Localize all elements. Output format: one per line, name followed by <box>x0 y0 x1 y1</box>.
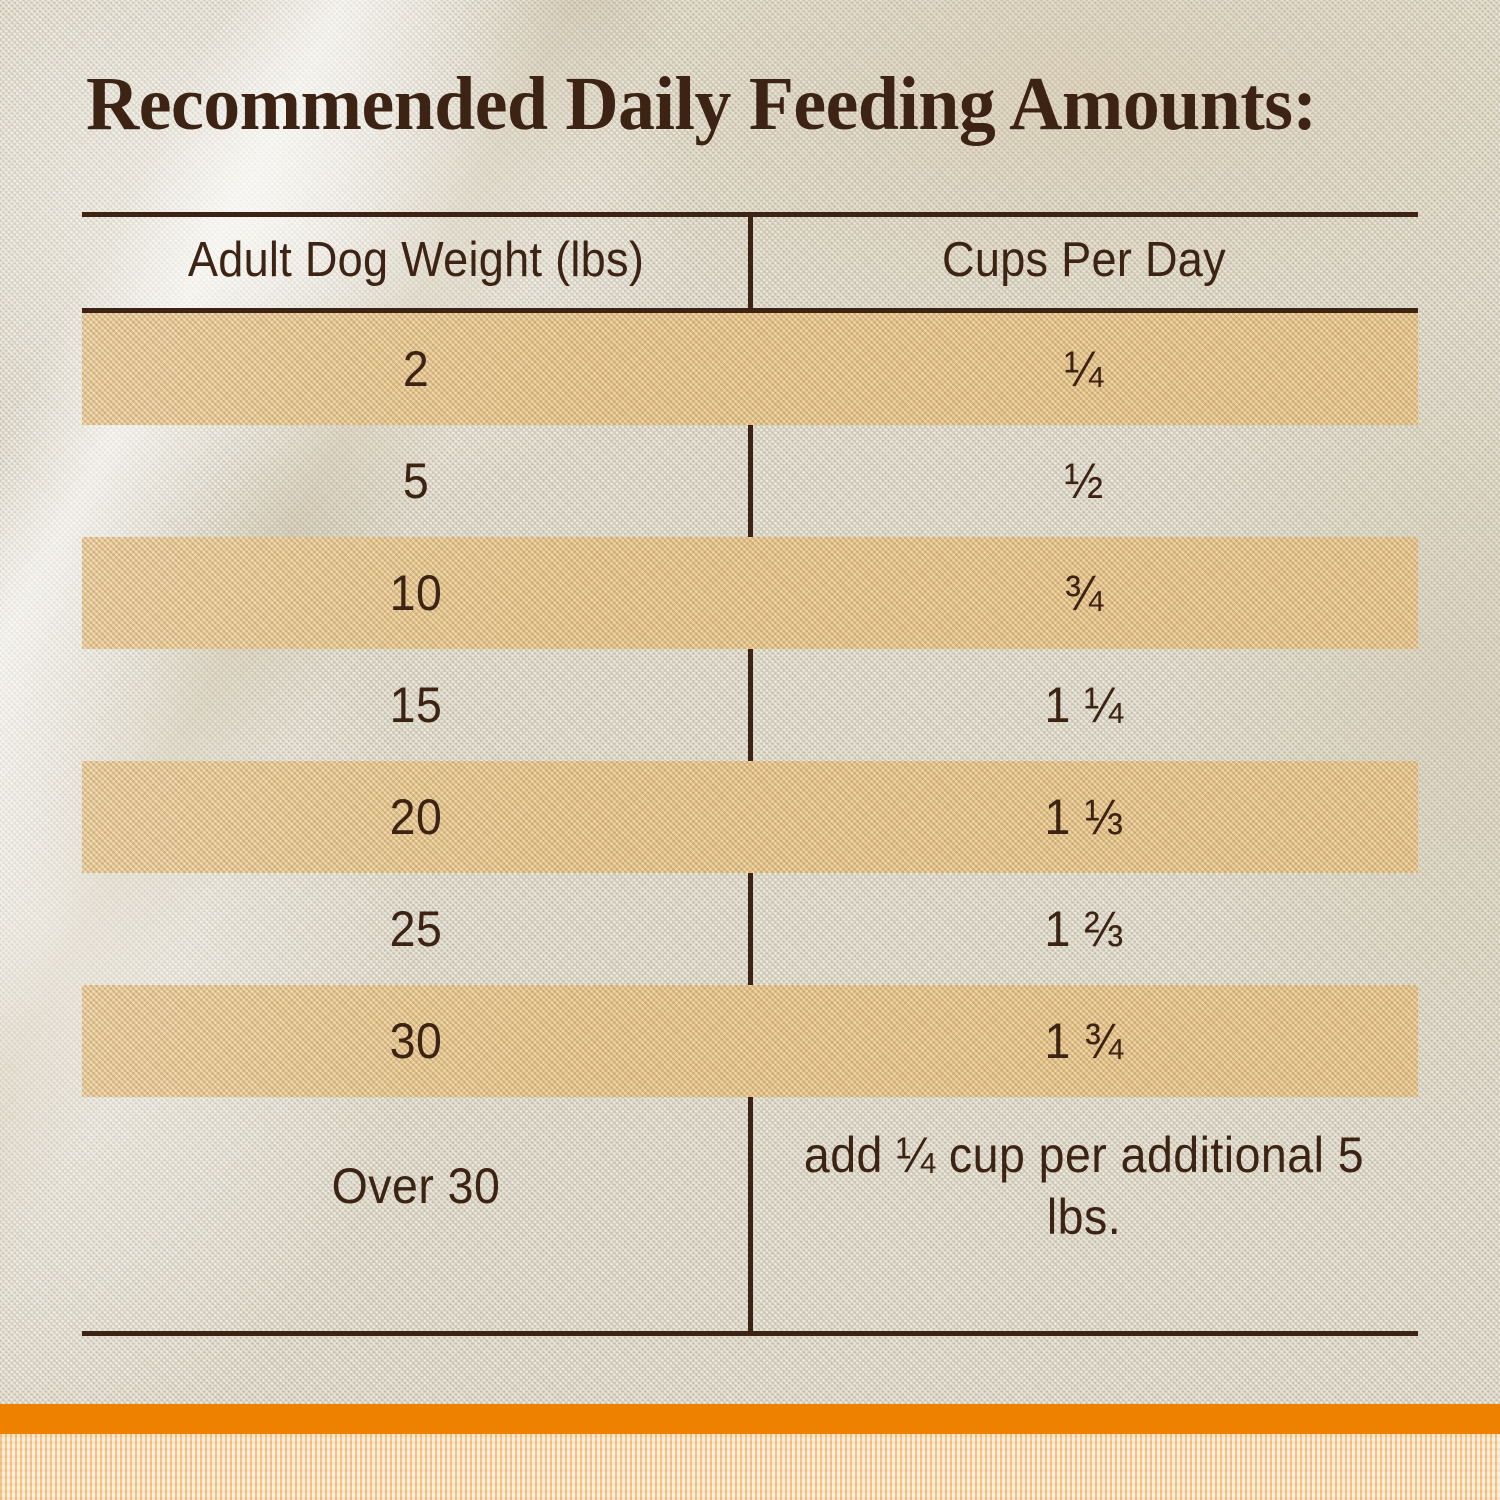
cell-cups: 1 ⅔ <box>773 873 1394 985</box>
table-row: 10 ¾ <box>82 537 1418 649</box>
cell-weight: 2 <box>105 313 726 425</box>
table-row: 5 ½ <box>82 425 1418 537</box>
cell-weight: 15 <box>105 649 726 761</box>
cell-cups: 1 ¼ <box>773 649 1394 761</box>
cell-cups: ¾ <box>773 537 1394 649</box>
cell-cups: add ¼ cup per additional 5 lbs. <box>773 1097 1394 1275</box>
cell-cups: ¼ <box>773 313 1394 425</box>
bottom-peach-fabric <box>0 1434 1500 1500</box>
cell-weight: 30 <box>105 985 726 1097</box>
table-row: 25 1 ⅔ <box>82 873 1418 985</box>
page-title: Recommended Daily Feeding Amounts: <box>86 62 1386 146</box>
table-row: 30 1 ¾ <box>82 985 1418 1097</box>
cell-weight: 5 <box>105 425 726 537</box>
table-row: 2 ¼ <box>82 313 1418 425</box>
table-row: 20 1 ⅓ <box>82 761 1418 873</box>
column-header-weight: Adult Dog Weight (lbs) <box>109 212 724 308</box>
cell-weight: Over 30 <box>105 1097 726 1275</box>
table-body: 2 ¼ 5 ½ 10 ¾ 15 1 ¼ 20 1 ⅓ 25 1 ⅔ <box>82 313 1418 1331</box>
accent-orange-bar <box>0 1404 1500 1434</box>
cell-cups: 1 ⅓ <box>773 761 1394 873</box>
table-row: 15 1 ¼ <box>82 649 1418 761</box>
cell-weight: 25 <box>105 873 726 985</box>
cell-weight: 10 <box>105 537 726 649</box>
column-header-cups: Cups Per Day <box>777 212 1392 308</box>
feeding-chart-canvas: Recommended Daily Feeding Amounts: Adult… <box>0 0 1500 1500</box>
table-row: Over 30 add ¼ cup per additional 5 lbs. <box>82 1097 1418 1275</box>
feeding-amounts-table: Adult Dog Weight (lbs) Cups Per Day 2 ¼ … <box>82 212 1418 1336</box>
cell-cups: ½ <box>773 425 1394 537</box>
cell-weight: 20 <box>105 761 726 873</box>
table-header-row: Adult Dog Weight (lbs) Cups Per Day <box>82 212 1418 308</box>
cell-cups: 1 ¾ <box>773 985 1394 1097</box>
